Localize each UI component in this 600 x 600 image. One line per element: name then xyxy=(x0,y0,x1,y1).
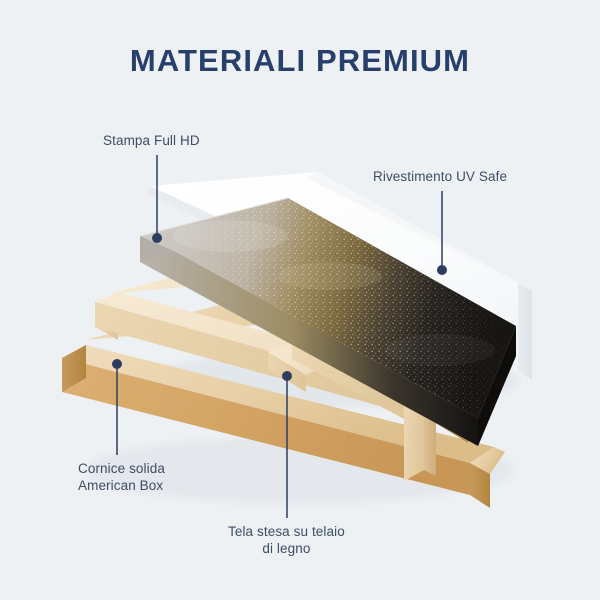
callout-label-canvas: Tela stesa su telaio di legno xyxy=(228,524,345,557)
callout-dot-print[interactable] xyxy=(152,233,162,243)
callout-label-print: Stampa Full HD xyxy=(103,133,200,150)
callout-dot-uv[interactable] xyxy=(437,265,447,275)
illustration-stage: MATERIALI PREMIUM xyxy=(0,0,600,600)
callout-label-frame: Cornice solida American Box xyxy=(78,461,165,494)
callout-label-uv: Rivestimento UV Safe xyxy=(373,169,507,186)
callout-dot-canvas[interactable] xyxy=(282,371,292,381)
callout-leaders xyxy=(0,0,600,600)
callout-dot-frame[interactable] xyxy=(112,359,122,369)
